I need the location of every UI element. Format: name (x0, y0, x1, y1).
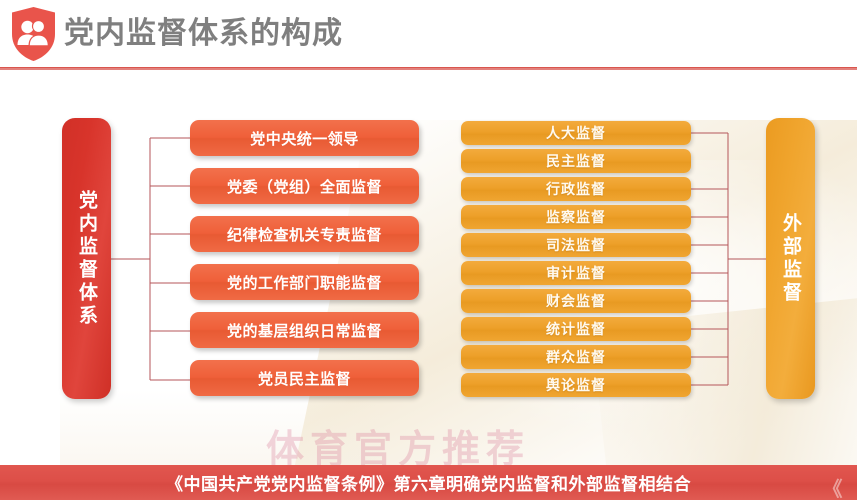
external-item[interactable]: 审计监督 (461, 261, 691, 285)
shield-people-icon (10, 6, 57, 62)
internal-item[interactable]: 党员民主监督 (190, 360, 419, 396)
internal-item-label: 党委（党组）全面监督 (227, 176, 382, 197)
external-item[interactable]: 行政监督 (461, 177, 691, 201)
external-item-label: 监察监督 (546, 207, 606, 227)
external-supervision-list: 人大监督 民主监督 行政监督 监察监督 司法监督 审计监督 财会监督 统计监督 … (461, 121, 691, 397)
internal-item[interactable]: 党中央统一领导 (190, 120, 419, 156)
external-item[interactable]: 统计监督 (461, 317, 691, 341)
footer-banner-text: 《中国共产党党内监督条例》第六章明确党内监督和外部监督相结合 (166, 470, 691, 495)
external-supervision-label: 外部监督 (778, 213, 803, 305)
external-item-label: 行政监督 (546, 179, 606, 199)
internal-supervision-system-pillar[interactable]: 党内监督体系 (62, 118, 111, 399)
external-item-label: 统计监督 (546, 319, 606, 339)
external-item-label: 司法监督 (546, 235, 606, 255)
external-item-label: 人大监督 (546, 123, 606, 143)
internal-item-label: 党员民主监督 (258, 368, 351, 389)
page-title: 党内监督体系的构成 (64, 14, 343, 54)
external-item[interactable]: 舆论监督 (461, 373, 691, 397)
header-divider-inner (0, 67, 857, 68)
internal-item[interactable]: 党委（党组）全面监督 (190, 168, 419, 204)
slide-header: 党内监督体系的构成 (0, 0, 857, 69)
footer-banner: 《中国共产党党内监督条例》第六章明确党内监督和外部监督相结合 《 (0, 465, 857, 500)
external-item-label: 舆论监督 (546, 375, 606, 395)
external-item[interactable]: 群众监督 (461, 345, 691, 369)
chevron-decoration-icon: 《 (823, 473, 844, 500)
external-supervision-pillar[interactable]: 外部监督 (766, 118, 815, 399)
internal-supervision-list: 党中央统一领导 党委（党组）全面监督 纪律检查机关专责监督 党的工作部门职能监督… (190, 120, 419, 396)
external-item-label: 财会监督 (546, 291, 606, 311)
external-item[interactable]: 财会监督 (461, 289, 691, 313)
external-item[interactable]: 司法监督 (461, 233, 691, 257)
internal-item-label: 党的基层组织日常监督 (227, 320, 382, 341)
internal-supervision-system-label: 党内监督体系 (74, 190, 99, 328)
external-item-label: 群众监督 (546, 347, 606, 367)
external-item-label: 民主监督 (546, 151, 606, 171)
header-divider (0, 67, 857, 70)
external-item[interactable]: 人大监督 (461, 121, 691, 145)
internal-item-label: 纪律检查机关专责监督 (227, 224, 382, 245)
internal-item[interactable]: 党的工作部门职能监督 (190, 264, 419, 300)
external-item-label: 审计监督 (546, 263, 606, 283)
internal-item[interactable]: 党的基层组织日常监督 (190, 312, 419, 348)
external-item[interactable]: 监察监督 (461, 205, 691, 229)
internal-item-label: 党的工作部门职能监督 (227, 272, 382, 293)
external-item[interactable]: 民主监督 (461, 149, 691, 173)
internal-item[interactable]: 纪律检查机关专责监督 (190, 216, 419, 252)
slide-canvas: 党内监督体系的构成 (0, 0, 857, 500)
internal-item-label: 党中央统一领导 (250, 128, 359, 149)
